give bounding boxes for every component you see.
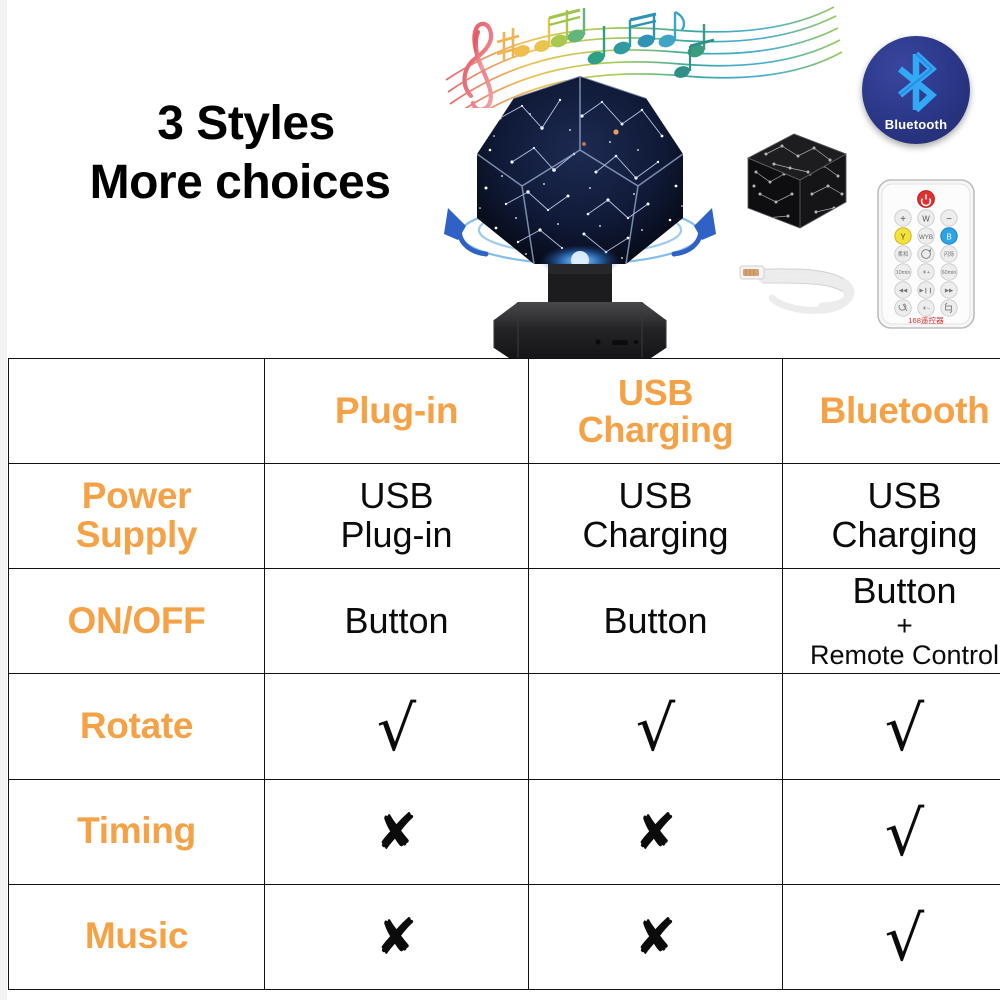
cell-power-supply-bluetooth: USB Charging — [783, 464, 1000, 569]
column-header-usb-charging-line1: USB — [618, 372, 693, 413]
svg-text:60min: 60min — [942, 270, 957, 276]
column-header-plug-in: Plug-in — [265, 359, 529, 464]
column-header-plug-in-label: Plug-in — [269, 392, 524, 430]
check-mark-icon: √ — [377, 698, 417, 760]
svg-text:闪烁: 闪烁 — [944, 250, 955, 258]
column-header-bluetooth-label: Bluetooth — [787, 392, 1000, 430]
cross-mark-icon: ✘ — [635, 807, 677, 857]
svg-text:B: B — [946, 233, 951, 242]
cell-rotate-usb-charging: √ — [529, 674, 783, 779]
svg-text:+: + — [900, 214, 906, 225]
svg-text:Y: Y — [900, 233, 906, 242]
cell-line-plus: + — [787, 611, 1000, 640]
cross-mark-icon: ✘ — [376, 807, 418, 857]
row-label-music: Music — [9, 884, 265, 989]
cell-timing-bluetooth: √ — [783, 779, 1000, 884]
hero-section: 3 Styles More choices — [0, 0, 1000, 358]
column-header-bluetooth: Bluetooth — [783, 359, 1000, 464]
star-projector-lamp — [430, 58, 730, 360]
cell-line-button: Button — [852, 570, 956, 611]
cell-music-bluetooth: √ — [783, 884, 1000, 989]
page-title: 3 Styles More choices — [40, 95, 440, 212]
cell-timing-plug-in: ✘ — [265, 779, 529, 884]
cell-music-plug-in: ✘ — [265, 884, 529, 989]
cell-on-off-plug-in: Button — [265, 569, 529, 674]
svg-text:柔和: 柔和 — [898, 250, 909, 258]
svg-text:▶▶: ▶▶ — [945, 288, 953, 294]
row-label-on-off: ON/OFF — [9, 569, 265, 674]
cell-line-remote-control: Remote Control — [787, 640, 1000, 670]
usb-cable — [738, 248, 868, 324]
bluetooth-icon — [892, 50, 940, 119]
bluetooth-badge-label: Bluetooth — [862, 117, 970, 132]
check-mark-icon: √ — [885, 803, 925, 865]
check-mark-icon: √ — [636, 698, 676, 760]
cell-timing-usb-charging: ✘ — [529, 779, 783, 884]
row-label-power-supply: Power Supply — [9, 464, 265, 569]
constellation-gift-box — [736, 128, 856, 238]
cell-power-supply-plug-in: USB Plug-in — [265, 464, 529, 569]
check-mark-icon: √ — [885, 908, 925, 970]
svg-text:10min: 10min — [896, 270, 911, 276]
row-label-line1: Power — [82, 475, 192, 516]
check-mark-icon: √ — [885, 698, 925, 760]
column-header-usb-charging-line2: Charging — [578, 409, 734, 450]
comparison-table: Plug-in USB Charging Bluetooth Power — [8, 358, 1000, 990]
headline-line-2: More choices — [40, 154, 440, 213]
svg-text:◀◀: ◀◀ — [899, 288, 907, 294]
svg-text:W: W — [922, 215, 930, 224]
product-comparison-infographic: 3 Styles More choices — [0, 0, 1000, 1000]
ir-remote-control: + W − Y WYB B — [872, 178, 980, 330]
cell-rotate-bluetooth: √ — [783, 674, 1000, 779]
svg-text:☀−: ☀− — [922, 306, 930, 312]
row-label-line2: Supply — [76, 514, 198, 555]
headline-line-1: 3 Styles — [40, 95, 440, 154]
row-label-timing: Timing — [9, 779, 265, 884]
cross-mark-icon: ✘ — [376, 912, 418, 962]
svg-text:WYB: WYB — [919, 234, 933, 241]
row-label-rotate: Rotate — [9, 674, 265, 779]
table-row-music: Music ✘ ✘ √ — [9, 884, 1000, 989]
column-header-usb-charging: USB Charging — [529, 359, 783, 464]
table-row-on-off: ON/OFF Button Button Button + Remote Con… — [9, 569, 1000, 674]
table-corner-cell — [9, 359, 265, 464]
cross-mark-icon: ✘ — [635, 912, 677, 962]
table-row-power-supply: Power Supply USB Plug-in USB Charging — [9, 464, 1000, 569]
cell-power-supply-usb-charging: USB Charging — [529, 464, 783, 569]
table-header-row: Plug-in USB Charging Bluetooth — [9, 359, 1000, 464]
svg-text:☀+: ☀+ — [922, 270, 930, 276]
cell-music-usb-charging: ✘ — [529, 884, 783, 989]
cell-rotate-plug-in: √ — [265, 674, 529, 779]
table-row-rotate: Rotate √ √ √ — [9, 674, 1000, 779]
svg-text:−: − — [946, 214, 952, 225]
remote-model-label: 168遥控器 — [908, 315, 944, 325]
cell-on-off-bluetooth: Button + Remote Control — [783, 569, 1000, 674]
table-row-timing: Timing ✘ ✘ √ — [9, 779, 1000, 884]
cell-on-off-usb-charging: Button — [529, 569, 783, 674]
bluetooth-badge: Bluetooth — [862, 36, 970, 144]
svg-text:▶❙❙: ▶❙❙ — [919, 288, 932, 294]
